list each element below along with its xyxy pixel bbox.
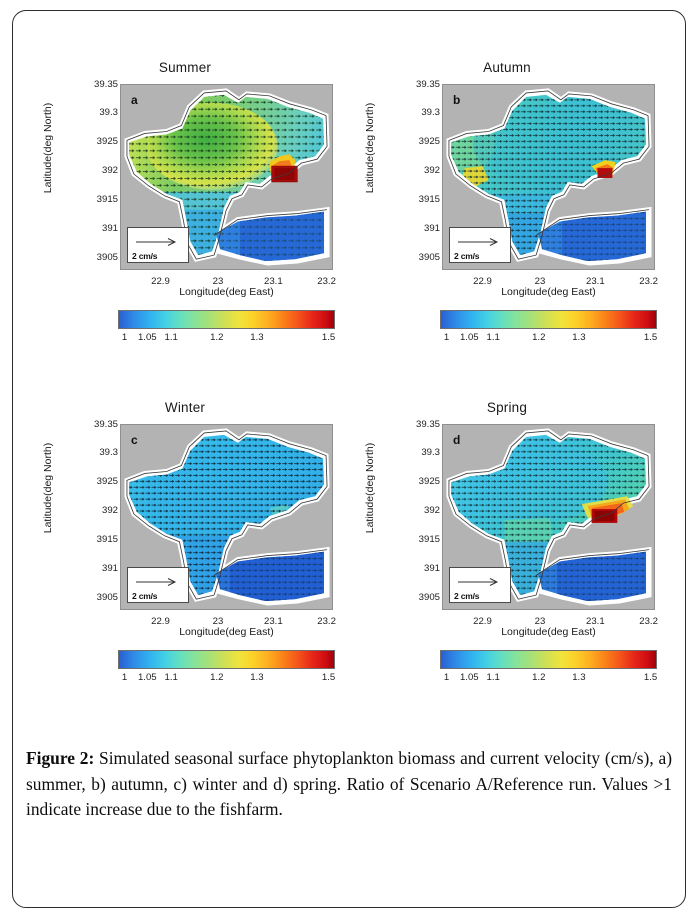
y-axis-label-winter: Latitude(deg North) [42,418,54,558]
colorbar-tick: 1.2 [210,672,223,683]
colorbar-winter: 1 1.05 1.1 1.2 1.3 1.5 [118,650,335,694]
y-tick: 39.3 [72,448,118,458]
colorbar-ticks-winter: 1 1.05 1.1 1.2 1.3 1.5 [118,672,335,688]
y-tick: 391 [394,224,440,234]
figure-caption-text: Simulated seasonal surface phytoplankton… [26,748,672,819]
y-axis-ticks-summer: 39.35 39.3 3925 392 3915 391 3905 [64,84,118,270]
colorbar-tick: 1.05 [460,672,479,683]
colorbar-tick: 1.3 [250,672,263,683]
y-tick: 391 [72,224,118,234]
colorbar-tick: 1.3 [572,672,585,683]
x-axis-label-spring: Longitude(deg East) [442,626,655,638]
panel-letter-b: b [453,93,460,107]
y-tick: 392 [394,506,440,516]
colorbar-tick: 1 [122,672,127,683]
velocity-scale-legend-spring: 2 cm/s [449,567,511,603]
colorbar-gradient-summer [118,310,335,329]
right-arrow-icon [456,576,504,588]
velocity-scale-legend-autumn: 2 cm/s [449,227,511,263]
y-tick: 39.3 [394,108,440,118]
y-tick: 392 [394,166,440,176]
figure-area: Summer 39.35 39.3 3925 392 3915 391 3905… [12,10,686,908]
panel-title-summer: Summer [20,60,350,75]
figure-caption: Figure 2: Simulated seasonal surface phy… [26,746,672,823]
colorbar-ticks-spring: 1 1.05 1.1 1.2 1.3 1.5 [440,672,657,688]
panel-autumn: Autumn 39.35 39.3 3925 392 3915 391 3905… [342,58,672,388]
y-axis-ticks-autumn: 39.35 39.3 3925 392 3915 391 3905 [386,84,440,270]
panel-letter-a: a [131,93,138,107]
x-axis-label-summer: Longitude(deg East) [120,286,333,298]
colorbar-ticks-summer: 1 1.05 1.1 1.2 1.3 1.5 [118,332,335,348]
x-axis-label-autumn: Longitude(deg East) [442,286,655,298]
y-tick: 39.35 [394,80,440,90]
colorbar-gradient-spring [440,650,657,669]
y-axis-label-autumn: Latitude(deg North) [364,78,376,218]
colorbar-tick: 1.05 [138,672,157,683]
colorbar-tick: 1.2 [532,672,545,683]
scale-legend-label: 2 cm/s [454,251,479,261]
y-tick: 3905 [72,593,118,603]
panel-letter-d: d [453,433,460,447]
colorbar-tick: 1.3 [250,332,263,343]
y-tick: 3925 [394,477,440,487]
y-tick: 3905 [394,253,440,263]
velocity-scale-legend-winter: 2 cm/s [127,567,189,603]
colorbar-tick: 1.3 [572,332,585,343]
y-tick: 392 [72,166,118,176]
colorbar-tick: 1.5 [322,332,335,343]
panel-spring: Spring 39.35 39.3 3925 392 3915 391 3905… [342,398,672,728]
y-tick: 39.35 [72,420,118,430]
y-tick: 3915 [72,195,118,205]
colorbar-tick: 1 [444,672,449,683]
figure-page: Summer 39.35 39.3 3925 392 3915 391 3905… [0,0,700,920]
colorbar-tick: 1.5 [644,332,657,343]
right-arrow-icon [134,576,182,588]
colorbar-tick: 1 [122,332,127,343]
panel-title-spring: Spring [342,400,672,415]
y-tick: 39.3 [72,108,118,118]
map-plot-autumn: b 2 cm/s [442,84,655,270]
colorbar-tick: 1.1 [164,332,177,343]
y-tick: 3905 [72,253,118,263]
colorbar-tick: 1.05 [138,332,157,343]
right-arrow-icon [456,236,504,248]
map-plot-winter: c 2 cm/s [120,424,333,610]
y-tick: 3925 [72,137,118,147]
y-tick: 3925 [72,477,118,487]
scale-legend-label: 2 cm/s [132,591,157,601]
colorbar-tick: 1.5 [322,672,335,683]
map-plot-spring: d 2 cm/s [442,424,655,610]
panel-letter-c: c [131,433,138,447]
y-tick: 391 [72,564,118,574]
colorbar-summer: 1 1.05 1.1 1.2 1.3 1.5 [118,310,335,354]
panel-summer: Summer 39.35 39.3 3925 392 3915 391 3905… [20,58,350,388]
colorbar-tick: 1.1 [164,672,177,683]
panel-title-winter: Winter [20,400,350,415]
y-tick: 3915 [394,195,440,205]
y-tick: 39.35 [72,80,118,90]
colorbar-tick: 1.1 [486,332,499,343]
y-tick: 3925 [394,137,440,147]
right-arrow-icon [134,236,182,248]
colorbar-gradient-autumn [440,310,657,329]
map-plot-summer: a 2 cm/s [120,84,333,270]
x-axis-label-winter: Longitude(deg East) [120,626,333,638]
colorbar-tick: 1 [444,332,449,343]
colorbar-gradient-winter [118,650,335,669]
panel-title-autumn: Autumn [342,60,672,75]
colorbar-tick: 1.2 [532,332,545,343]
y-tick: 391 [394,564,440,574]
colorbar-tick: 1.5 [644,672,657,683]
y-tick: 3905 [394,593,440,603]
panel-winter: Winter 39.35 39.3 3925 392 3915 391 3905… [20,398,350,728]
colorbar-ticks-autumn: 1 1.05 1.1 1.2 1.3 1.5 [440,332,657,348]
scale-legend-label: 2 cm/s [132,251,157,261]
y-tick: 39.35 [394,420,440,430]
colorbar-spring: 1 1.05 1.1 1.2 1.3 1.5 [440,650,657,694]
y-axis-ticks-winter: 39.35 39.3 3925 392 3915 391 3905 [64,424,118,610]
y-axis-ticks-spring: 39.35 39.3 3925 392 3915 391 3905 [386,424,440,610]
colorbar-tick: 1.05 [460,332,479,343]
y-tick: 3915 [72,535,118,545]
colorbar-tick: 1.2 [210,332,223,343]
y-tick: 3915 [394,535,440,545]
y-tick: 392 [72,506,118,516]
scale-legend-label: 2 cm/s [454,591,479,601]
y-axis-label-spring: Latitude(deg North) [364,418,376,558]
y-tick: 39.3 [394,448,440,458]
colorbar-autumn: 1 1.05 1.1 1.2 1.3 1.5 [440,310,657,354]
y-axis-label-summer: Latitude(deg North) [42,78,54,218]
figure-caption-label: Figure 2: [26,748,94,768]
colorbar-tick: 1.1 [486,672,499,683]
velocity-scale-legend-summer: 2 cm/s [127,227,189,263]
